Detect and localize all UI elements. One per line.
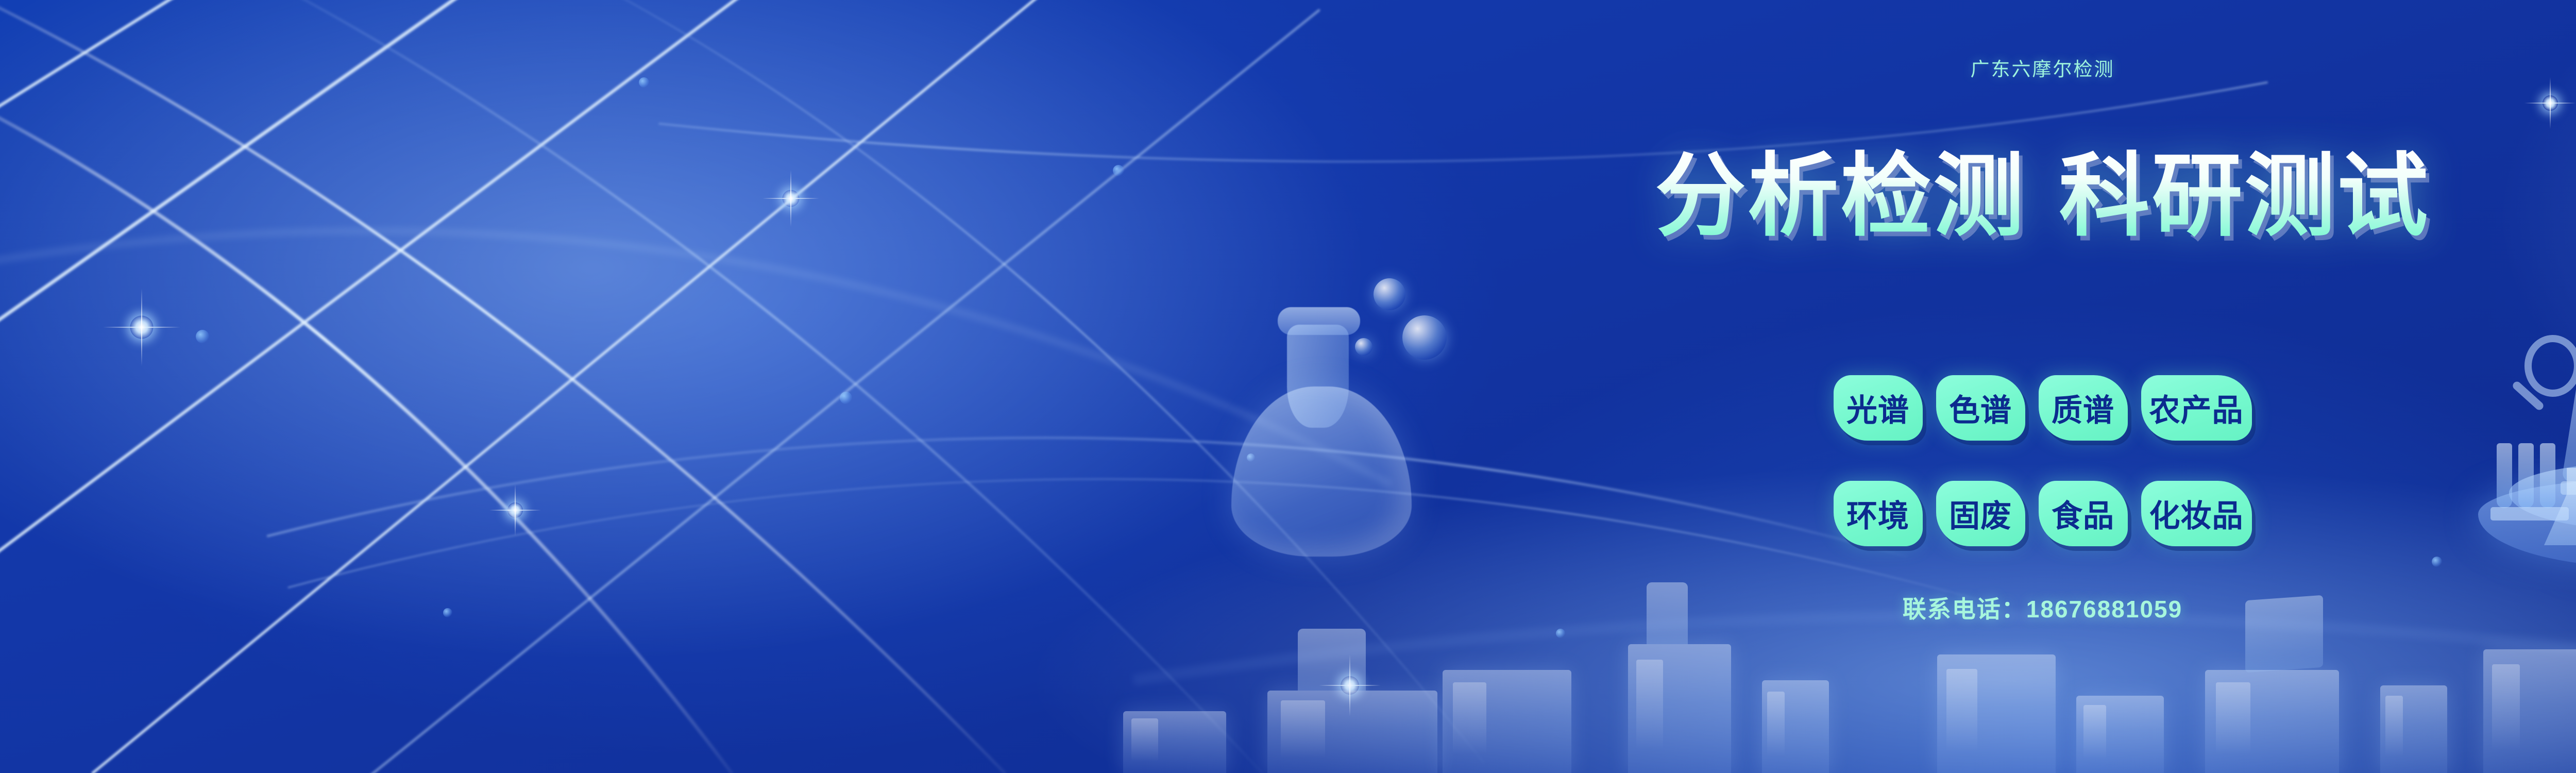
service-tag-list: 光谱 色谱 质谱 农产品 环境 固废 食品 化妆品: [0, 375, 2576, 546]
tag-gufei[interactable]: 固废: [1936, 481, 2025, 546]
tag-row-2: 环境 固废 食品 化妆品: [1834, 481, 2252, 546]
tag-guangpu[interactable]: 光谱: [1834, 375, 1923, 441]
banner-content: 广东六摩尔检测 分析检测科研测试 光谱 色谱 质谱 农产品 环境 固废 食品 化…: [0, 0, 2576, 773]
tag-sepu[interactable]: 色谱: [1936, 375, 2025, 441]
tag-shipin[interactable]: 食品: [2039, 481, 2128, 546]
promo-banner: 广东六摩尔检测 分析检测科研测试 光谱 色谱 质谱 农产品 环境 固废 食品 化…: [0, 0, 2576, 773]
tag-huanjing[interactable]: 环境: [1834, 481, 1923, 546]
tag-nongchanpin[interactable]: 农产品: [2141, 375, 2252, 441]
tag-row-1: 光谱 色谱 质谱 农产品: [1834, 375, 2252, 441]
company-name: 广东六摩尔检测: [0, 54, 2576, 81]
contact-phone[interactable]: 联系电话：18676881059: [0, 591, 2576, 625]
tag-huazhuangpin[interactable]: 化妆品: [2141, 481, 2252, 546]
headline-part-2: 科研测试: [2059, 146, 2430, 247]
tag-zhipu[interactable]: 质谱: [2039, 375, 2128, 441]
page-title: 分析检测科研测试: [0, 147, 2576, 245]
headline-part-1: 分析检测: [1655, 146, 2026, 247]
